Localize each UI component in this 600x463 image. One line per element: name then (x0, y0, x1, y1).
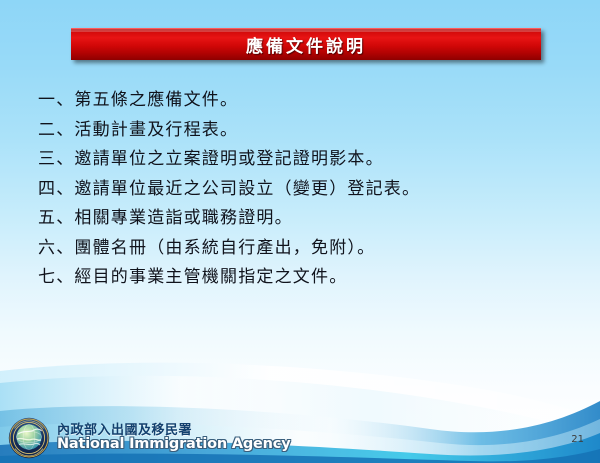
list-item: 三、邀請單位之立案證明或登記證明影本。 (38, 145, 568, 175)
list-item: 七、經目的事業主管機關指定之文件。 (38, 263, 568, 293)
presentation-slide: 應備文件說明 一、第五條之應備文件。 二、活動計畫及行程表。 三、邀請單位之立案… (0, 0, 600, 463)
list-item: 五、相關專業造詣或職務證明。 (38, 204, 568, 234)
agency-name-block: 內政部入出國及移民署 National Immigration Agency (57, 424, 290, 453)
list-item: 一、第五條之應備文件。 (38, 86, 568, 116)
slide-title-banner: 應備文件說明 (71, 28, 541, 60)
agency-name-english: National Immigration Agency (57, 437, 290, 452)
page-number: 21 (571, 434, 584, 445)
document-requirements-list: 一、第五條之應備文件。 二、活動計畫及行程表。 三、邀請單位之立案證明或登記證明… (38, 86, 568, 293)
list-item: 六、團體名冊（由系統自行產出，免附）。 (38, 234, 568, 264)
agency-name-chinese: 內政部入出國及移民署 (57, 424, 290, 438)
list-item: 四、邀請單位最近之公司設立（變更）登記表。 (38, 175, 568, 205)
page-title: 應備文件說明 (246, 32, 366, 57)
footer-brand: 內政部入出國及移民署 National Immigration Agency (8, 417, 290, 459)
agency-globe-emblem-icon (8, 417, 50, 459)
list-item: 二、活動計畫及行程表。 (38, 116, 568, 146)
